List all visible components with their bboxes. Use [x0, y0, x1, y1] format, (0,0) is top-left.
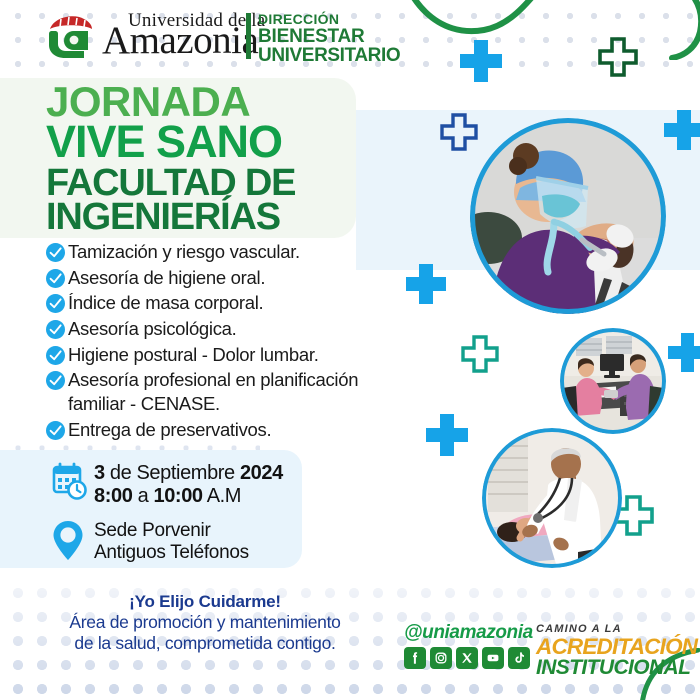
list-item: Asesoría profesional en planificación fa… [46, 368, 466, 415]
cross-solid-icon [662, 108, 700, 152]
page-title: JORNADA VIVE SANO FACULTAD DE INGENIERÍA… [46, 82, 366, 236]
event-place-text: Sede Porvenir Antiguos Teléfonos [94, 520, 249, 564]
direccion-label: DIRECCIÓN [258, 12, 400, 27]
event-info: 3 de Septiembre 2024 8:00 a 10:00 A.M Se… [52, 462, 352, 564]
list-item-label: Entrega de preservativos. [68, 418, 271, 442]
event-time-period: A.M [203, 485, 241, 507]
cross-solid-icon [668, 330, 700, 374]
event-year: 2024 [240, 462, 283, 484]
accreditation-sub-label: INSTITUCIONAL [536, 657, 697, 678]
list-item: Asesoría de higiene oral. [46, 266, 466, 290]
photo-ring [470, 118, 666, 314]
calendar-clock-icon [52, 462, 88, 502]
event-time-end: 10:00 [153, 485, 202, 507]
photo-ring [560, 328, 666, 434]
services-list: Tamización y riesgo vascular. Asesoría d… [46, 240, 466, 443]
poster-header: Universidad de la Amazonia DIRECCIÓN BIE… [0, 0, 700, 72]
footer-slogan: ¡Yo Elijo Cuidarme! [0, 592, 410, 612]
bienestar-block: DIRECCIÓN BIENESTAR UNIVERSITARIO [258, 12, 400, 66]
footer-subtext-line1: Área de promoción y mantenimiento [0, 612, 410, 633]
university-name-line2: Amazonia [102, 23, 265, 59]
cross-outline-icon [460, 334, 500, 374]
social-handle: @uniamazonia [404, 622, 533, 644]
event-day: 3 [94, 462, 105, 484]
bienestar-label: BIENESTAR [258, 27, 400, 47]
header-divider [246, 13, 251, 59]
footer-subtext-line2: de la salud, comprometida contigo. [0, 633, 410, 654]
event-date-row: 3 de Septiembre 2024 8:00 a 10:00 A.M [52, 462, 352, 508]
poster-canvas: Universidad de la Amazonia DIRECCIÓN BIE… [0, 0, 700, 700]
accreditation-block: CAMINO A LA ACREDITACIÓN INSTITUCIONAL [536, 624, 697, 678]
photo-consultation [560, 328, 666, 434]
youtube-icon[interactable] [482, 647, 504, 669]
tiktok-icon[interactable] [508, 647, 530, 669]
event-place-line2: Antiguos Teléfonos [94, 542, 249, 564]
check-circle-icon [46, 269, 65, 288]
list-item-label: Asesoría psicológica. [68, 317, 237, 341]
social-block: @uniamazonia [404, 622, 533, 669]
list-item: Entrega de preservativos. [46, 418, 466, 442]
photo-ring [482, 428, 622, 568]
list-item: Índice de masa corporal. [46, 291, 466, 315]
x-twitter-icon[interactable] [456, 647, 478, 669]
social-icon-list [404, 647, 533, 669]
event-time-start: 8:00 [94, 485, 132, 507]
list-item-label: Índice de masa corporal. [68, 291, 263, 315]
cross-outline-icon [439, 112, 479, 152]
check-circle-icon [46, 371, 65, 390]
instagram-icon[interactable] [430, 647, 452, 669]
title-line-vive-sano: VIVE SANO [46, 120, 366, 163]
event-place-line1: Sede Porvenir [94, 520, 249, 542]
list-item: Tamización y riesgo vascular. [46, 240, 466, 264]
facebook-icon[interactable] [404, 647, 426, 669]
university-logo: Universidad de la Amazonia [44, 12, 265, 59]
photo-medical-exam [482, 428, 622, 568]
check-circle-icon [46, 421, 65, 440]
check-circle-icon [46, 294, 65, 313]
university-wordmark: Universidad de la Amazonia [102, 12, 265, 59]
list-item-label: Asesoría profesional en planificación [68, 369, 358, 390]
check-circle-icon [46, 346, 65, 365]
event-time-join: a [132, 485, 153, 507]
list-item: Asesoría psicológica. [46, 317, 466, 341]
event-month: de Septiembre [105, 462, 240, 484]
universitario-label: UNIVERSITARIO [258, 46, 400, 66]
list-item-label-continued: familiar - CENASE. [68, 392, 358, 416]
event-location-row: Sede Porvenir Antiguos Teléfonos [52, 520, 352, 564]
check-circle-icon [46, 243, 65, 262]
check-circle-icon [46, 320, 65, 339]
list-item-label: Tamización y riesgo vascular. [68, 240, 300, 264]
map-pin-icon [52, 520, 88, 562]
list-item-label: Asesoría de higiene oral. [68, 266, 265, 290]
list-item-label: Higiene postural - Dolor lumbar. [68, 343, 319, 367]
photo-dental-care [470, 118, 666, 314]
list-item: Higiene postural - Dolor lumbar. [46, 343, 466, 367]
title-line-ingenierias: INGENIERÍAS [46, 198, 366, 236]
event-date-text: 3 de Septiembre 2024 8:00 a 10:00 A.M [94, 462, 283, 508]
footer-message: ¡Yo Elijo Cuidarme! Área de promoción y … [0, 592, 410, 653]
universidad-amazonia-logo-icon [44, 13, 100, 59]
